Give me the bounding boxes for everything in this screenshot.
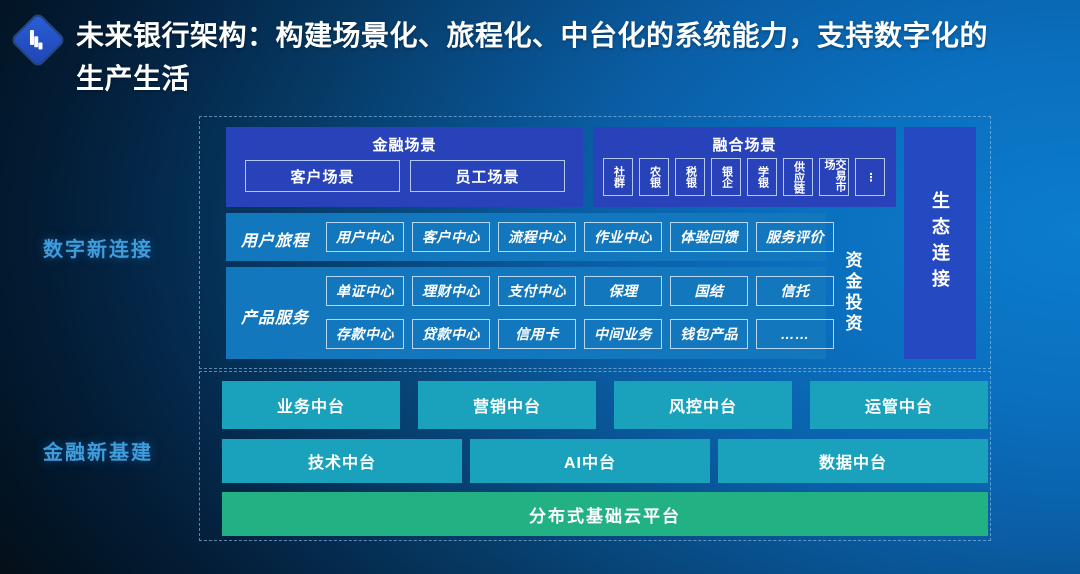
financial-scenario-panel: 金融场景 客户场景 员工场景 [226, 127, 583, 207]
tile-deposit-center[interactable]: 存款中心 [326, 319, 404, 349]
tile-intl-settlement[interactable]: 国结 [670, 276, 748, 306]
fund-investment-label: 资金投资 [839, 238, 865, 348]
product-service-band: 产品服务 单证中心 理财中心 支付中心 保理 国结 信托 存款中心 贷款中心 信… [226, 267, 826, 359]
chip-school-bank[interactable]: 学银 [747, 158, 777, 196]
tile-wallet-product[interactable]: 钱包产品 [670, 319, 748, 349]
chip-community[interactable]: 社群 [603, 158, 633, 196]
tile-payment-center[interactable]: 支付中心 [498, 276, 576, 306]
product-service-label: 产品服务 [241, 304, 309, 328]
tile-experience-feedback[interactable]: 体验回馈 [670, 222, 748, 252]
tile-credit-card[interactable]: 信用卡 [498, 319, 576, 349]
section-label-financial-infrastructure: 金融新基建 [43, 436, 153, 465]
platform-technology-middle[interactable]: 技术中台 [222, 439, 462, 483]
slide-header: 未来银行架构：构建场景化、旅程化、中台化的系统能力，支持数字化的生产生活 [0, 0, 1080, 108]
platform-distributed-cloud[interactable]: 分布式基础云平台 [222, 492, 988, 536]
platform-marketing-middle[interactable]: 营销中台 [418, 381, 596, 429]
tile-process-center[interactable]: 流程中心 [498, 222, 576, 252]
tile-document-center[interactable]: 单证中心 [326, 276, 404, 306]
chip-more-ellipsis[interactable]: ⋮ [855, 158, 885, 196]
platform-risk-middle[interactable]: 风控中台 [614, 381, 792, 429]
section-label-digital-connection: 数字新连接 [43, 233, 153, 262]
page-title: 未来银行架构：构建场景化、旅程化、中台化的系统能力，支持数字化的生产生活 [76, 14, 1016, 100]
platform-ai-middle[interactable]: AI中台 [470, 439, 710, 483]
diamond-bars-logo-icon [13, 15, 64, 66]
fusion-scenario-title: 融合场景 [593, 134, 896, 155]
tile-service-evaluation[interactable]: 服务评价 [756, 222, 834, 252]
financial-scenario-title: 金融场景 [226, 134, 583, 155]
user-journey-label: 用户旅程 [241, 227, 309, 251]
tile-wealth-center[interactable]: 理财中心 [412, 276, 490, 306]
tile-user-center[interactable]: 用户中心 [326, 222, 404, 252]
chip-agri-bank[interactable]: 农银 [639, 158, 669, 196]
tile-trust[interactable]: 信托 [756, 276, 834, 306]
platform-business-middle[interactable]: 业务中台 [222, 381, 400, 429]
tile-operation-center[interactable]: 作业中心 [584, 222, 662, 252]
chip-customer-scenario[interactable]: 客户场景 [245, 160, 400, 192]
tile-loan-center[interactable]: 贷款中心 [412, 319, 490, 349]
tile-customer-center[interactable]: 客户中心 [412, 222, 490, 252]
chip-employee-scenario[interactable]: 员工场景 [410, 160, 565, 192]
tile-more-ellipsis[interactable]: …… [756, 319, 834, 349]
tile-factoring[interactable]: 保理 [584, 276, 662, 306]
tile-intermediary-business[interactable]: 中间业务 [584, 319, 662, 349]
chip-tax-bank[interactable]: 税银 [675, 158, 705, 196]
fusion-scenario-panel: 融合场景 社群 农银 税银 银企 学银 供应链 交易市场 ⋮ [593, 127, 896, 207]
platform-data-middle[interactable]: 数据中台 [718, 439, 988, 483]
chip-bank-enterprise[interactable]: 银企 [711, 158, 741, 196]
platform-operation-middle[interactable]: 运管中台 [810, 381, 988, 429]
chip-supply-chain[interactable]: 供应链 [783, 158, 813, 196]
slide-canvas: 未来银行架构：构建场景化、旅程化、中台化的系统能力，支持数字化的生产生活 数字新… [0, 0, 1080, 574]
ecology-connection-column: 生态连接 [904, 127, 976, 359]
chip-trading-market[interactable]: 交易市场 [819, 158, 849, 196]
user-journey-band: 用户旅程 用户中心 客户中心 流程中心 作业中心 体验回馈 服务评价 [226, 213, 826, 261]
ecology-connection-label: 生态连接 [904, 127, 976, 359]
